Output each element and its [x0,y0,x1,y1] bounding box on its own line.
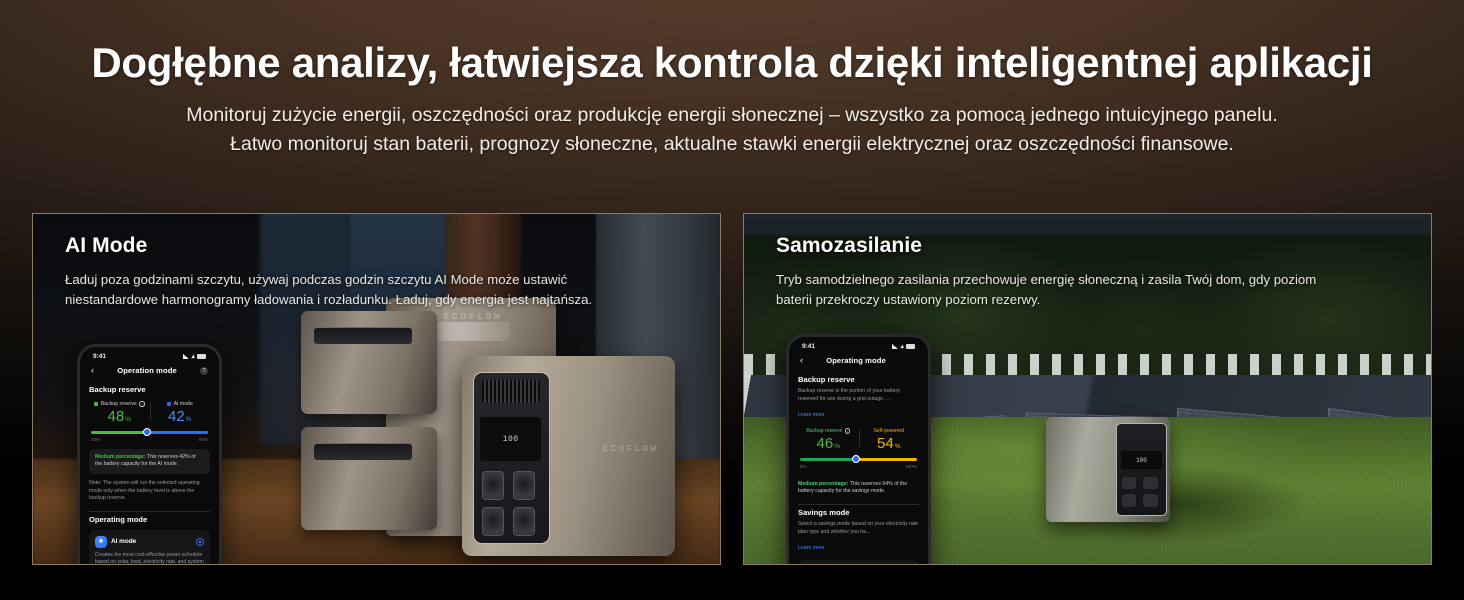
feature-cards: ECOFLOW 100 ECOFLOW [32,213,1432,565]
learn-more-link-2[interactable]: Learn more [798,545,825,551]
promo-banner: Dogłębne analizy, łatwiejsza kontrola dz… [0,0,1464,600]
mode-description: Creates the most cost-effective power sc… [95,552,204,565]
signal-icon [892,344,898,349]
page-title: Dogłębne analizy, łatwiejsza kontrola dz… [20,40,1444,85]
stat-unit: % [125,416,131,423]
subhead-line-1: Monitoruj zużycie energii, oszczędności … [186,104,1278,126]
vent-grille [482,380,540,404]
reserve-stats: Backup reserve i 46% Self-powered [798,428,919,451]
status-icons: ▴ [183,354,206,360]
slider-track[interactable] [91,431,208,434]
stat-value: 54 [877,435,894,452]
power-station-display: 100 [480,417,541,461]
divider [798,504,919,505]
brand-label-main: ECOFLOW [444,312,503,322]
phone-status-bar: 9:41 ▴ [89,347,210,362]
reserve-note: Note: The system will run the selected o… [89,480,210,503]
section-title-backup-reserve: Backup reserve [798,375,919,384]
percentage-callout: Medium percentage: This reserves 42% of … [89,449,210,475]
learn-more-link[interactable]: Learn more [798,412,825,418]
phone-mockup-self-powered: 9:41 ▴ ‹ Operating mode Backup reserve [786,334,931,565]
slider-min-label: 5% [800,464,807,469]
power-station-front-panel: 100 [1116,423,1168,515]
card-description: Tryb samodzielnego zasilania przechowuje… [776,270,1346,309]
legend-swatch-green [94,402,99,407]
phone-status-bar: 9:41 ▴ [798,337,919,352]
section-title-savings-mode: Savings mode [798,508,919,517]
reserve-slider[interactable]: 5% 100% [798,458,919,469]
callout-emphasis: Medium percentage: [798,481,848,487]
stat-unit: % [186,416,192,423]
card-title: AI Mode [65,234,692,258]
screen-title: Operation mode [117,366,177,375]
mode-name: AI mode [111,538,192,545]
ac-socket [482,507,504,536]
card-copy-self-powered: Samozasilanie Tryb samodzielnego zasilan… [776,234,1403,309]
callout-emphasis: Medium percentage: [95,454,145,460]
section-note: Backup reserve is the portion of your ba… [798,388,919,403]
wifi-icon: ▴ [900,344,903,350]
stat-unit: % [895,443,901,450]
stat-unit: % [834,443,840,450]
feature-card-self-powered[interactable]: 100 Samozasilanie Tryb samodzielnego zas… [743,213,1432,565]
section-title-backup-reserve: Backup reserve [89,385,210,394]
slider-knob[interactable] [143,428,151,436]
slider-min-label: 20% [91,437,100,442]
ac-socket [513,507,535,536]
ecoflow-power-station-outdoor: 100 [1046,417,1170,522]
chevron-left-icon[interactable]: ‹ [800,356,803,365]
phone-mockup-ai-mode: 9:41 ▴ ‹ Operation mode ? Backup reserve [77,344,222,565]
ac-socket [1122,494,1137,507]
stat-label: Backup reserve [806,428,842,434]
percentage-callout: Medium percentage: This reserves 54% of … [798,476,919,497]
phone-nav-bar: ‹ Operation mode ? [89,362,210,382]
battery-icon [197,354,206,359]
mode-option-ai[interactable]: ⚛ AI mode Creates the most cost-effectiv… [89,530,210,565]
ac-socket [482,471,504,500]
ecoflow-expansion-battery-bottom [301,427,437,530]
help-circle-icon[interactable]: ? [200,367,208,375]
header: Dogłębne analizy, łatwiejsza kontrola dz… [0,40,1464,158]
slider-max-label: 100% [905,464,917,469]
chevron-left-icon[interactable]: ‹ [91,366,94,375]
mode-option-savings[interactable]: ☁ [798,560,919,565]
slider-track[interactable] [800,458,917,461]
status-time: 9:41 [802,343,815,350]
feature-card-ai-mode[interactable]: ECOFLOW 100 ECOFLOW [32,213,721,565]
ecoflow-expansion-battery-top [301,311,437,414]
divider [89,511,210,512]
info-icon[interactable]: i [139,401,145,407]
stat-label: Backup reserve [101,401,137,407]
status-icons: ▴ [892,344,915,350]
battery-icon [906,344,915,349]
brand-label: ECOFLOW [603,444,658,454]
status-time: 9:41 [93,353,106,360]
stat-value: 48 [108,408,125,425]
section-title-operating-mode: Operating mode [89,515,210,524]
ac-socket [1143,494,1158,507]
reserve-slider[interactable]: 20% 80% [89,431,210,442]
reserve-stats: Backup reserve i 48% AI mode [89,401,210,424]
subhead-line-2: Łatwo monitoruj stan baterii, prognozy s… [230,133,1234,155]
stat-ai-mode: AI mode 42% [150,401,211,424]
phone-nav-bar: ‹ Operating mode [798,352,919,372]
stat-value: 46 [817,435,834,452]
stat-self-powered: Self-powered 54% [859,428,920,451]
power-station-display: 100 [1121,451,1163,469]
stat-label: AI mode [174,401,193,407]
stat-label: Self-powered [873,428,904,434]
power-station-front-panel: 100 [473,372,550,544]
card-title: Samozasilanie [776,234,1403,258]
ac-socket [1143,477,1158,490]
info-icon[interactable]: i [845,428,851,434]
ac-socket [513,471,535,500]
card-copy-ai-mode: AI Mode Ładuj poza godzinami szczytu, uż… [65,234,692,309]
legend-swatch-blue [167,402,172,407]
stat-backup-reserve: Backup reserve i 48% [89,401,150,424]
signal-icon [183,354,189,359]
screen-title: Operating mode [826,356,886,365]
ac-socket [1122,477,1137,490]
card-description: Ładuj poza godzinami szczytu, używaj pod… [65,270,635,309]
stat-value: 42 [168,408,185,425]
savings-mode-note: Select a savings mode based on your elec… [798,521,919,536]
ai-mode-icon: ⚛ [95,536,107,548]
wifi-icon: ▴ [191,354,194,360]
ecoflow-power-station: 100 ECOFLOW [462,356,675,556]
slider-max-label: 80% [199,437,208,442]
slider-knob[interactable] [852,455,860,463]
stat-backup-reserve: Backup reserve i 46% [798,428,859,451]
radio-button-selected[interactable] [196,538,204,546]
